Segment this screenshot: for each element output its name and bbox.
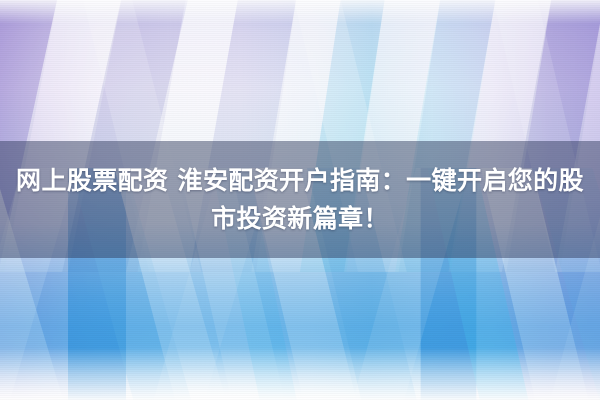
banner-headline: 网上股票配资 淮安配资开户指南：一键开启您的股市投资新篇章！ [6,162,594,238]
caption-overlay-band: 网上股票配资 淮安配资开户指南：一键开启您的股市投资新篇章！ [0,141,600,258]
promo-banner: 网上股票配资 淮安配资开户指南：一键开启您的股市投资新篇章！ [0,0,600,400]
